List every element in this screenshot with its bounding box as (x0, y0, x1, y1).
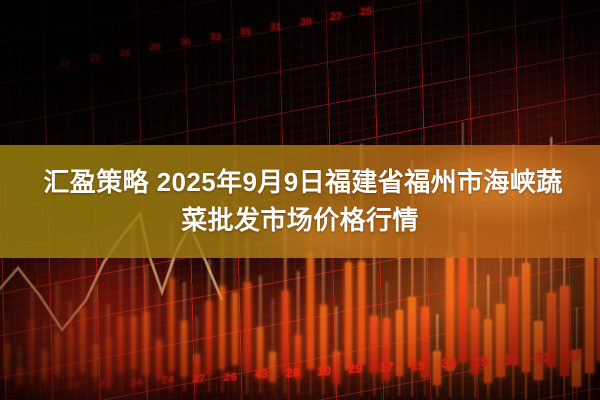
title-line-1: 汇盈策略 2025年9月9日福建省福州市海峡蔬 (37, 164, 562, 202)
stock-chart-image: 2225262830333531392725 15172823242427264… (0, 0, 600, 400)
title-line-2: 菜批发市场价格行情 (181, 202, 419, 240)
title-band: 汇盈策略 2025年9月9日福建省福州市海峡蔬 菜批发市场价格行情 (0, 145, 600, 258)
